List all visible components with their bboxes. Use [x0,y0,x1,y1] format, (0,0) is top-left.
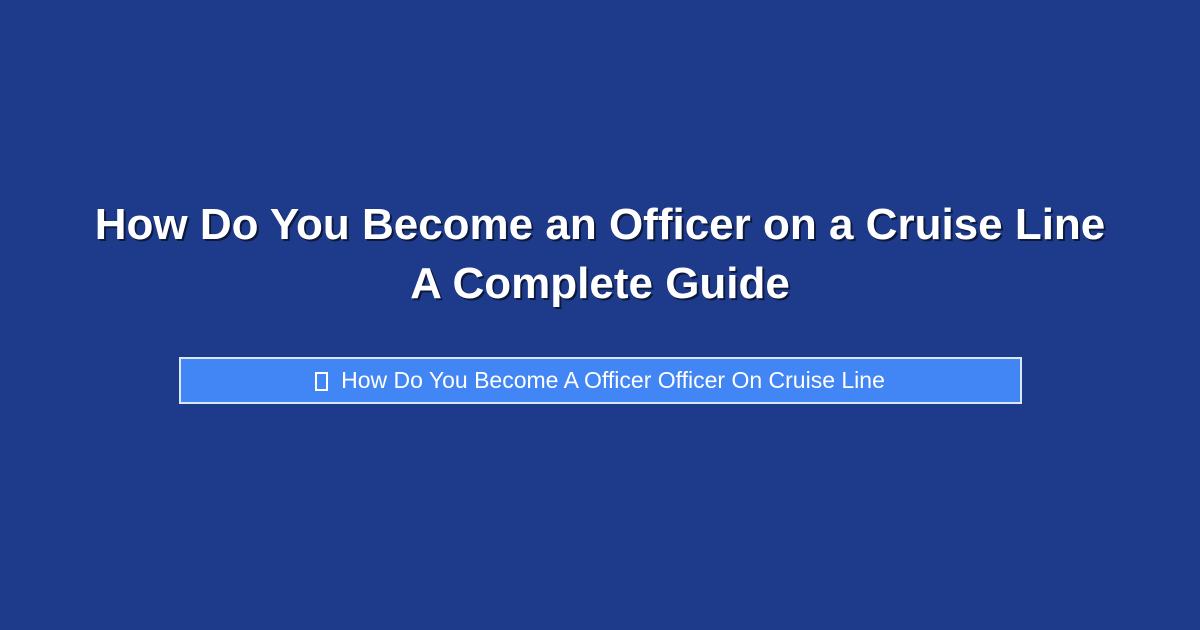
cta-button-label: How Do You Become A Officer Officer On C… [341,369,885,392]
missing-glyph-box-icon [315,372,328,391]
cta-container: How Do You Become A Officer Officer On C… [0,357,1200,404]
cta-button[interactable]: How Do You Become A Officer Officer On C… [179,357,1022,404]
page-title: How Do You Become an Officer on a Cruise… [0,196,1200,313]
social-share-card: How Do You Become an Officer on a Cruise… [0,0,1200,630]
